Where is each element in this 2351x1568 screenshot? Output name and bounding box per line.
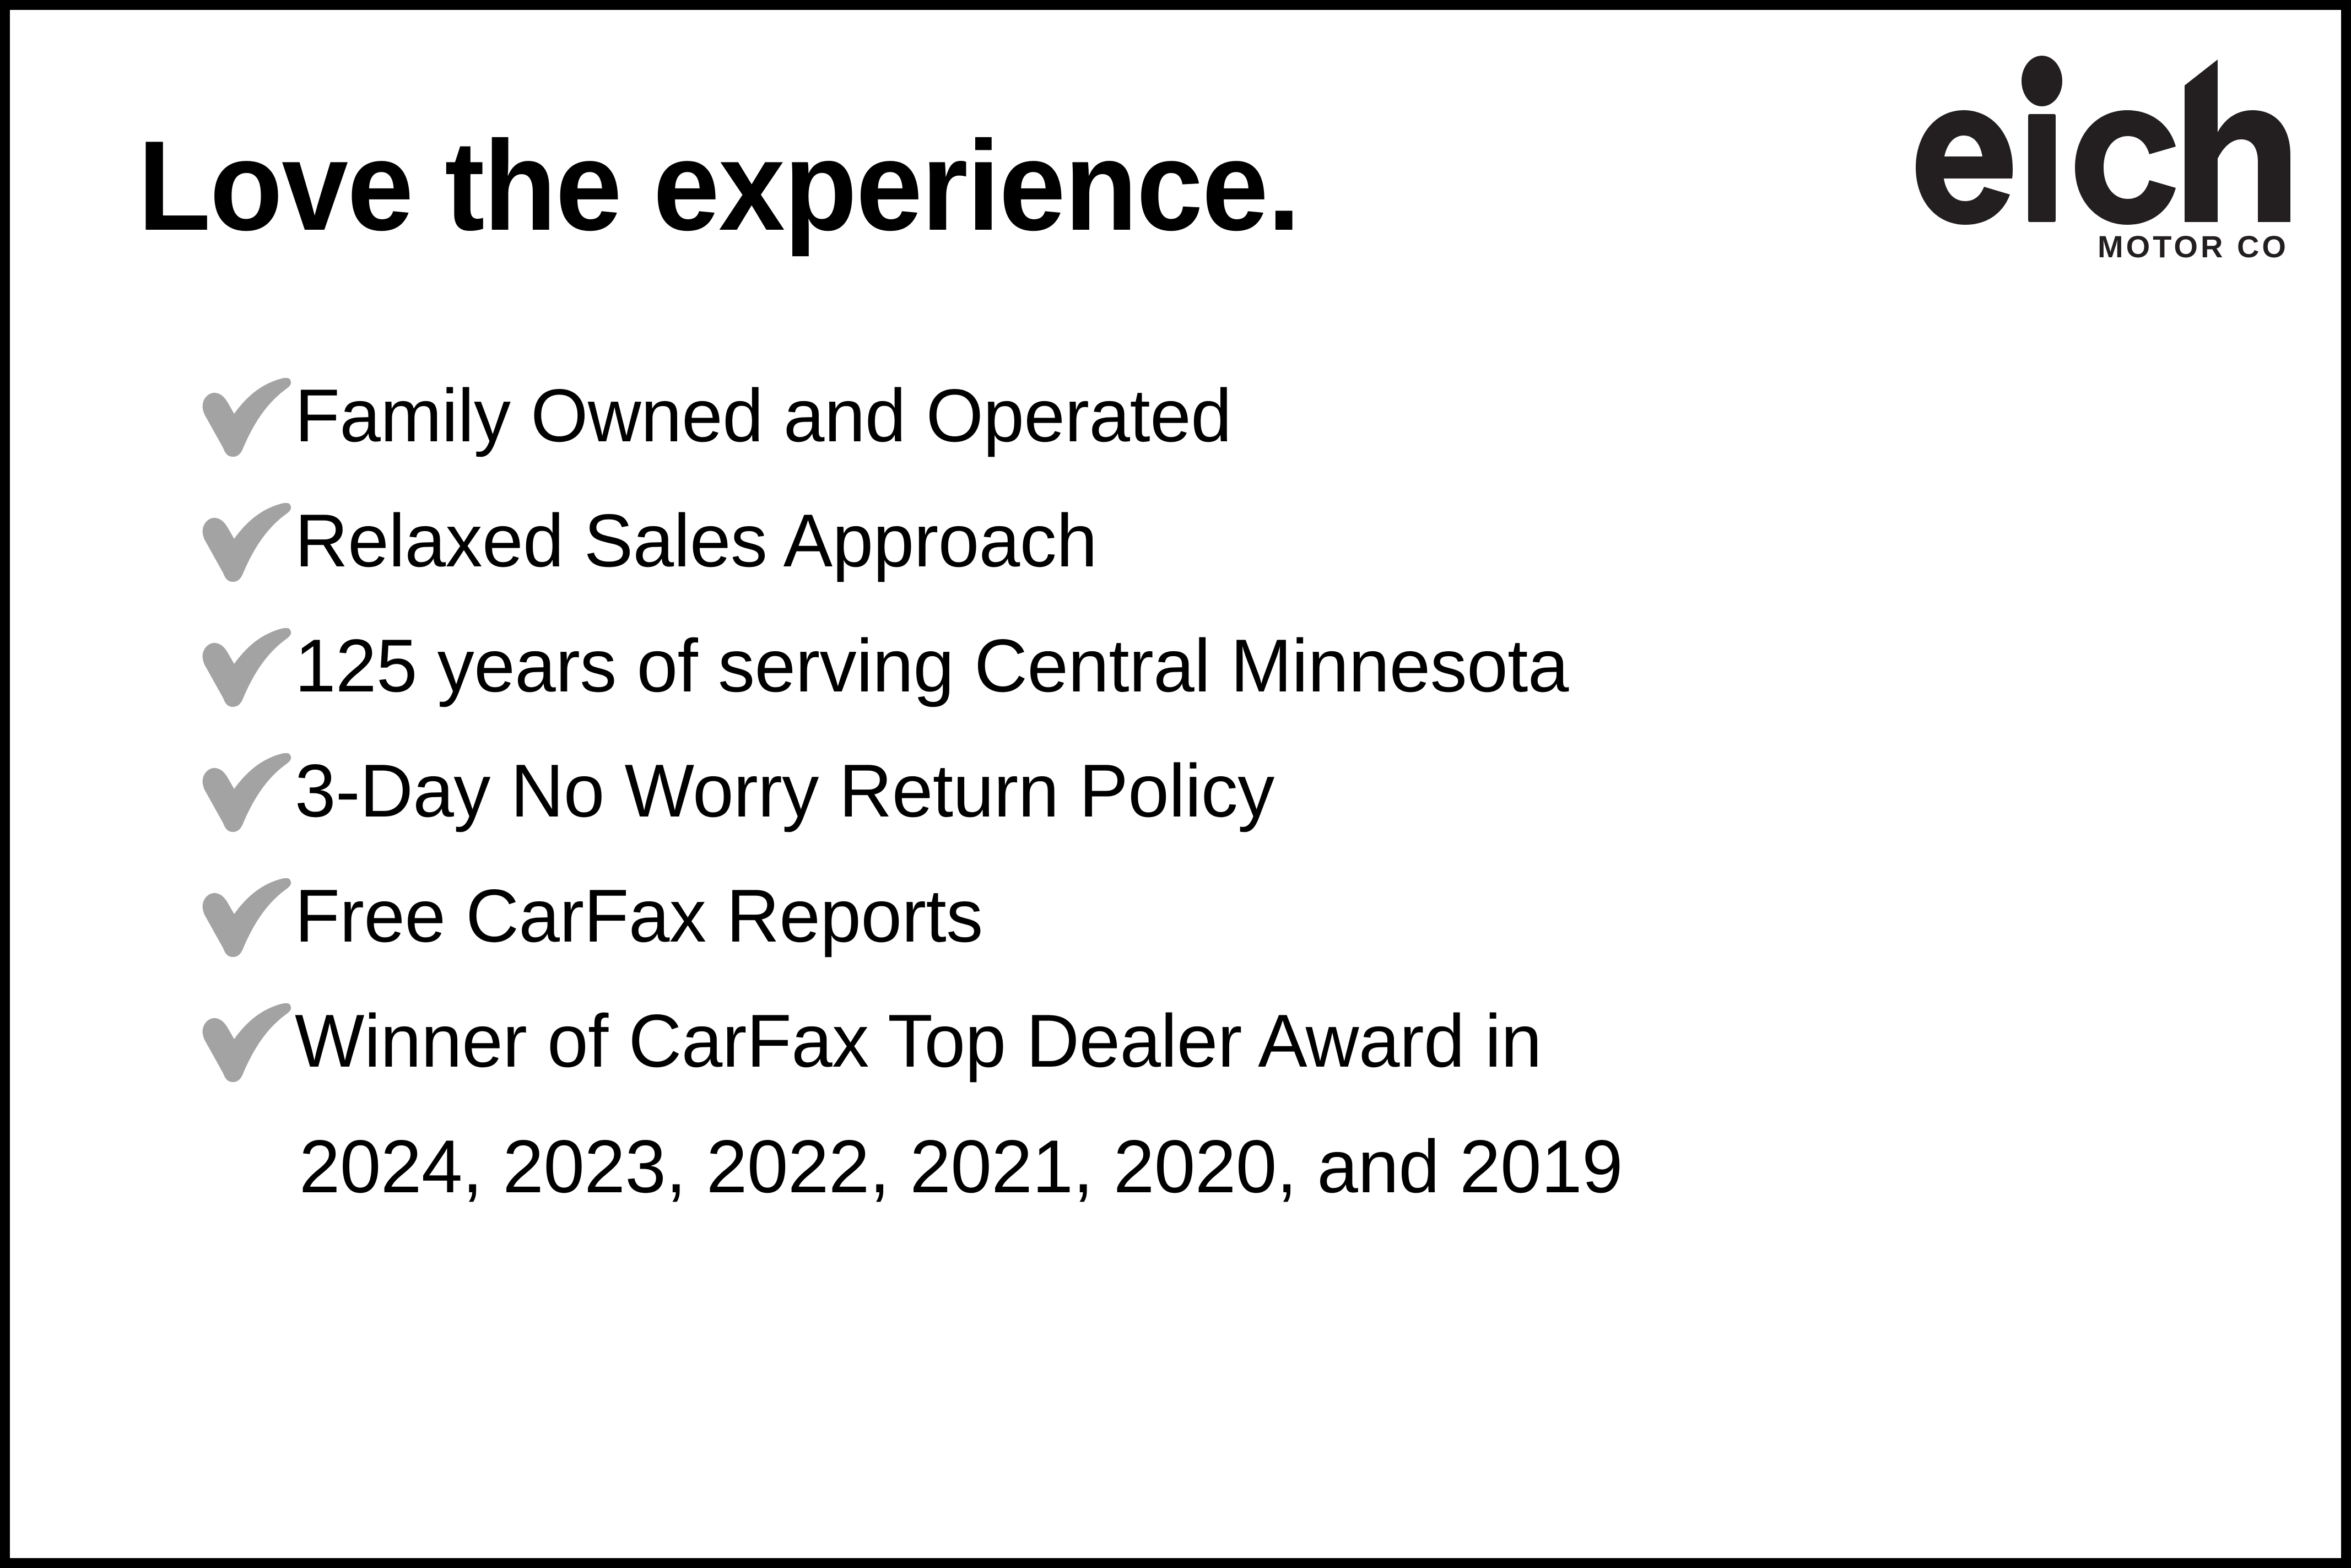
list-item: Winner of CarFax Top Dealer Award in 202…	[198, 978, 2182, 1103]
card-border-bottom	[0, 1558, 2351, 1568]
list-item: Family Owned and Operated	[198, 353, 2182, 478]
list-item: Relaxed Sales Approach	[198, 478, 2182, 603]
check-mark-icon	[198, 1003, 295, 1086]
list-item-label: Winner of CarFax Top Dealer Award in	[295, 999, 1542, 1083]
list-item: Free CarFax Reports	[198, 853, 2182, 978]
list-item-label: Relaxed Sales Approach	[295, 478, 2154, 603]
promo-card: Love the experience. MOTOR CO	[0, 0, 2351, 1568]
card-border-top	[0, 0, 2351, 10]
check-mark-icon	[198, 503, 295, 586]
check-mark-icon	[198, 878, 295, 961]
card-border-left	[0, 0, 10, 1568]
check-mark-icon	[198, 628, 295, 711]
list-item-label: 3-Day No Worry Return Policy	[295, 728, 2154, 853]
page-title: Love the experience.	[138, 122, 1300, 250]
check-mark-icon	[198, 753, 295, 836]
list-item: 3-Day No Worry Return Policy	[198, 728, 2182, 853]
list-item-label: 125 years of serving Central Minnesota	[295, 603, 2154, 728]
list-item: 125 years of serving Central Minnesota	[198, 603, 2182, 728]
card-border-right	[2341, 0, 2351, 1568]
list-item-label-continuation: 2024, 2023, 2022, 2021, 2020, and 2019	[295, 1104, 2154, 1229]
check-mark-icon	[198, 378, 295, 461]
benefits-checklist: Family Owned and Operated Relaxed Sales …	[198, 353, 2182, 1103]
list-item-label: Family Owned and Operated	[295, 353, 2154, 478]
eich-motor-co-logo: MOTOR CO	[1911, 51, 2291, 260]
svg-text:MOTOR CO: MOTOR CO	[2098, 229, 2289, 260]
list-item-label: Free CarFax Reports	[295, 853, 2154, 978]
